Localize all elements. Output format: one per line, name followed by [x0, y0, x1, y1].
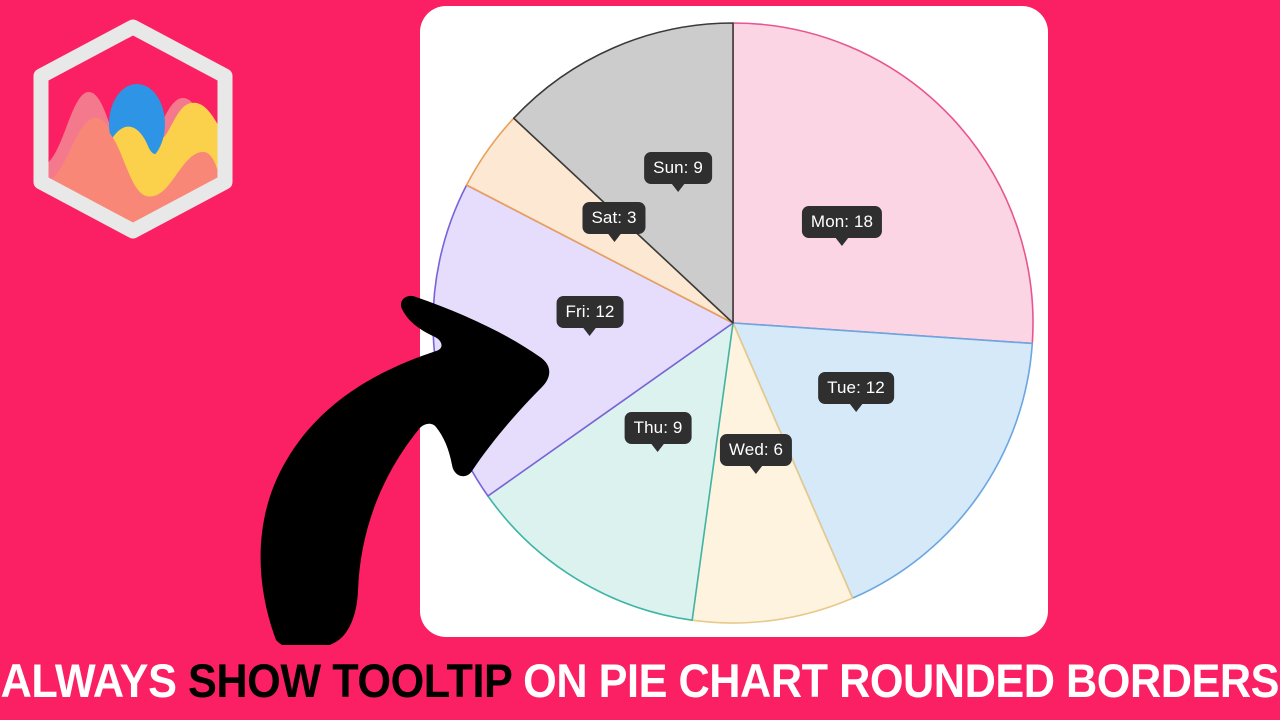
pie-slice-group[interactable] [433, 23, 1033, 623]
pie-chart[interactable] [420, 6, 1048, 637]
tooltip-tue-text: Tue: 12 [827, 378, 885, 397]
tooltip-sun: Sun: 9 [644, 152, 712, 184]
tooltip-fri: Fri: 12 [557, 296, 624, 328]
tooltip-wed-text: Wed: 6 [729, 440, 783, 459]
tooltip-thu: Thu: 9 [625, 412, 692, 444]
tooltip-wed: Wed: 6 [720, 434, 792, 466]
caption-part2: ON PIE CHART ROUNDED BORDERS [512, 654, 1279, 707]
tooltip-thu-text: Thu: 9 [634, 418, 683, 437]
tooltip-tue: Tue: 12 [818, 372, 894, 404]
brand-logo [22, 14, 244, 244]
chart-card [420, 6, 1048, 637]
tooltip-fri-text: Fri: 12 [566, 302, 615, 321]
thumbnail-canvas: Mon: 18 Tue: 12 Wed: 6 Thu: 9 Fri: 12 Sa… [0, 0, 1280, 720]
tooltip-sat-text: Sat: 3 [591, 208, 636, 227]
pie-slice-mon[interactable] [733, 23, 1033, 343]
caption-bar: ALWAYS SHOW TOOLTIP ON PIE CHART ROUNDED… [0, 640, 1280, 720]
caption-highlight: SHOW TOOLTIP [188, 654, 512, 707]
tooltip-sat: Sat: 3 [582, 202, 645, 234]
tooltip-sun-text: Sun: 9 [653, 158, 703, 177]
caption-text: ALWAYS SHOW TOOLTIP ON PIE CHART ROUNDED… [1, 657, 1279, 704]
hexagon-area-chart-icon [22, 14, 244, 244]
caption-part1: ALWAYS [1, 654, 188, 707]
tooltip-mon-text: Mon: 18 [811, 212, 873, 231]
tooltip-mon: Mon: 18 [802, 206, 882, 238]
